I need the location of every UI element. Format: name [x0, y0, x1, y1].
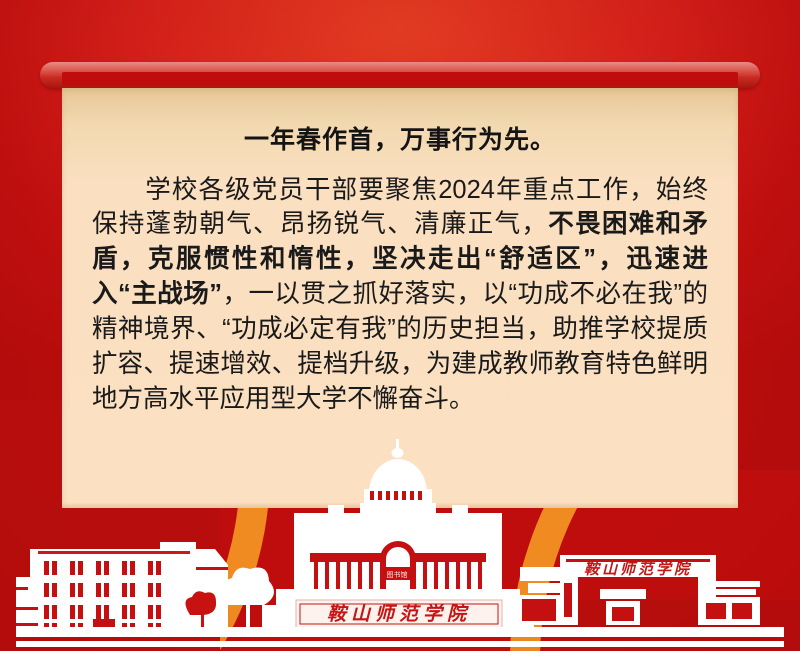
body-paragraph: 学校各级党员干部要聚焦2024年重点工作，始终保持蓬勃朝气、昂扬锐气、清廉正气，… [92, 173, 708, 417]
right-gate-building: 鞍山师范学院 [518, 555, 760, 625]
campus-skyline-illustration: 图书馆 鞍山师范学院 鞍山师范学院 [0, 437, 800, 667]
entrance-plaque-text: 图书馆 [387, 570, 408, 579]
right-gate-sign-text: 鞍山师范学院 [584, 560, 692, 578]
main-building-sign: 鞍山师范学院 [296, 600, 502, 628]
main-building-sign-text: 鞍山师范学院 [327, 603, 471, 625]
ground-band [0, 627, 800, 667]
page-title: 一年春作首，万事行为先。 [92, 124, 708, 157]
entrance-plaque: 图书馆 [381, 567, 413, 580]
main-library-building: 图书馆 鞍山师范学院 [262, 439, 534, 628]
scroll-rod-top [40, 62, 760, 88]
poster-canvas: 一年春作首，万事行为先。 学校各级党员干部要聚焦2024年重点工作，始终保持蓬勃… [0, 0, 800, 667]
left-dormitory-block [16, 542, 228, 635]
scroll-rod-core [62, 72, 738, 86]
